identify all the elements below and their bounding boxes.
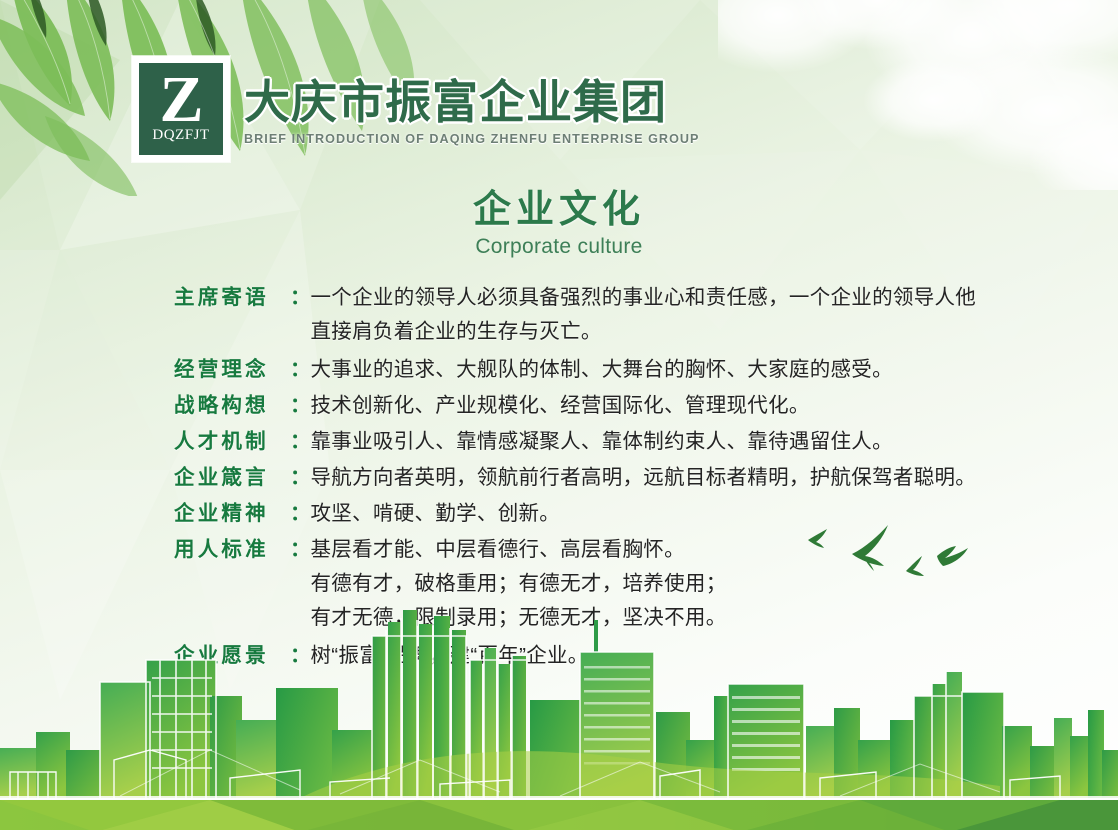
culture-row-colon: ： xyxy=(290,497,311,531)
brand-title-block: 大庆市振富企业集团 BRIEF INTRODUCTION OF DAQING Z… xyxy=(244,56,700,146)
page-title-english: Corporate culture xyxy=(0,235,1118,259)
poster-canvas: Z DQZFJT 大庆市振富企业集团 BRIEF INTRODUCTION OF… xyxy=(0,0,1118,830)
culture-row: 企业愿景：树“振富”品牌，建“百年”企业。 xyxy=(174,639,1054,673)
culture-row-line: 基层看才能、中层看德行、高层看胸怀。 xyxy=(311,533,1055,567)
culture-row-label: 经营理念 xyxy=(174,353,290,387)
culture-row-body: 导航方向者英明，领航前行者高明，远航目标者精明，护航保驾者聪明。 xyxy=(311,461,1055,495)
culture-row-body: 攻坚、啃硬、勤学、创新。 xyxy=(311,497,1055,531)
culture-row-label: 用人标准 xyxy=(174,533,290,567)
culture-row-colon: ： xyxy=(290,353,311,387)
culture-row-body: 树“振富”品牌，建“百年”企业。 xyxy=(311,639,1055,673)
culture-row: 主席寄语：一个企业的领导人必须具备强烈的事业心和责任感，一个企业的领导人他直接肩… xyxy=(174,281,1054,349)
culture-row-body: 基层看才能、中层看德行、高层看胸怀。有德有才，破格重用；有德无才，培养使用；有才… xyxy=(311,533,1055,635)
culture-row-line: 直接肩负着企业的生存与灭亡。 xyxy=(311,315,1055,349)
culture-row-line: 大事业的追求、大舰队的体制、大舞台的胸怀、大家庭的感受。 xyxy=(311,353,1055,387)
culture-row-body: 一个企业的领导人必须具备强烈的事业心和责任感，一个企业的领导人他直接肩负着企业的… xyxy=(311,281,1055,349)
culture-row-line: 攻坚、啃硬、勤学、创新。 xyxy=(311,497,1055,531)
company-name: 大庆市振富企业集团 xyxy=(244,78,700,127)
culture-row-colon: ： xyxy=(290,281,311,315)
logo-inner-square: Z DQZFJT xyxy=(139,63,223,155)
culture-row: 用人标准：基层看才能、中层看德行、高层看胸怀。有德有才，破格重用；有德无才，培养… xyxy=(174,533,1054,635)
brand-header: Z DQZFJT 大庆市振富企业集团 BRIEF INTRODUCTION OF… xyxy=(132,56,700,162)
culture-row-colon: ： xyxy=(290,425,311,459)
culture-row: 企业箴言：导航方向者英明，领航前行者高明，远航目标者精明，护航保驾者聪明。 xyxy=(174,461,1054,495)
culture-list: 主席寄语：一个企业的领导人必须具备强烈的事业心和责任感，一个企业的领导人他直接肩… xyxy=(174,281,1054,675)
clouds-decoration xyxy=(718,0,1118,190)
culture-row-line: 有德有才，破格重用；有德无才，培养使用； xyxy=(311,567,1055,601)
culture-row-line: 有才无德，限制录用；无德无才，坚决不用。 xyxy=(311,601,1055,635)
company-name-english: BRIEF INTRODUCTION OF DAQING ZHENFU ENTE… xyxy=(244,132,700,146)
culture-row-label: 战略构想 xyxy=(174,389,290,423)
logo-initials: DQZFJT xyxy=(152,127,209,144)
culture-row: 企业精神：攻坚、啃硬、勤学、创新。 xyxy=(174,497,1054,531)
culture-row-line: 树“振富”品牌，建“百年”企业。 xyxy=(311,639,1055,673)
culture-row-colon: ： xyxy=(290,639,311,673)
culture-row-body: 技术创新化、产业规模化、经营国际化、管理现代化。 xyxy=(311,389,1055,423)
culture-row-label: 人才机制 xyxy=(174,425,290,459)
culture-row-line: 导航方向者英明，领航前行者高明，远航目标者精明，护航保驾者聪明。 xyxy=(311,461,1055,495)
culture-row-colon: ： xyxy=(290,461,311,495)
page-title: 企业文化 xyxy=(0,190,1118,232)
logo-letter-z: Z xyxy=(159,74,202,125)
culture-row: 人才机制：靠事业吸引人、靠情感凝聚人、靠体制约束人、靠待遇留住人。 xyxy=(174,425,1054,459)
culture-row: 战略构想：技术创新化、产业规模化、经营国际化、管理现代化。 xyxy=(174,389,1054,423)
culture-row: 经营理念：大事业的追求、大舰队的体制、大舞台的胸怀、大家庭的感受。 xyxy=(174,353,1054,387)
culture-row-colon: ： xyxy=(290,533,311,567)
culture-row-label: 企业愿景 xyxy=(174,639,290,673)
culture-row-body: 大事业的追求、大舰队的体制、大舞台的胸怀、大家庭的感受。 xyxy=(311,353,1055,387)
culture-row-colon: ： xyxy=(290,389,311,423)
culture-row-line: 一个企业的领导人必须具备强烈的事业心和责任感，一个企业的领导人他 xyxy=(311,281,1055,315)
culture-row-line: 靠事业吸引人、靠情感凝聚人、靠体制约束人、靠待遇留住人。 xyxy=(311,425,1055,459)
culture-row-label: 企业箴言 xyxy=(174,461,290,495)
culture-row-body: 靠事业吸引人、靠情感凝聚人、靠体制约束人、靠待遇留住人。 xyxy=(311,425,1055,459)
culture-row-label: 企业精神 xyxy=(174,497,290,531)
culture-row-label: 主席寄语 xyxy=(174,281,290,315)
company-logo: Z DQZFJT xyxy=(132,56,230,162)
section-title-block: 企业文化 Corporate culture xyxy=(0,190,1118,259)
culture-row-line: 技术创新化、产业规模化、经营国际化、管理现代化。 xyxy=(311,389,1055,423)
